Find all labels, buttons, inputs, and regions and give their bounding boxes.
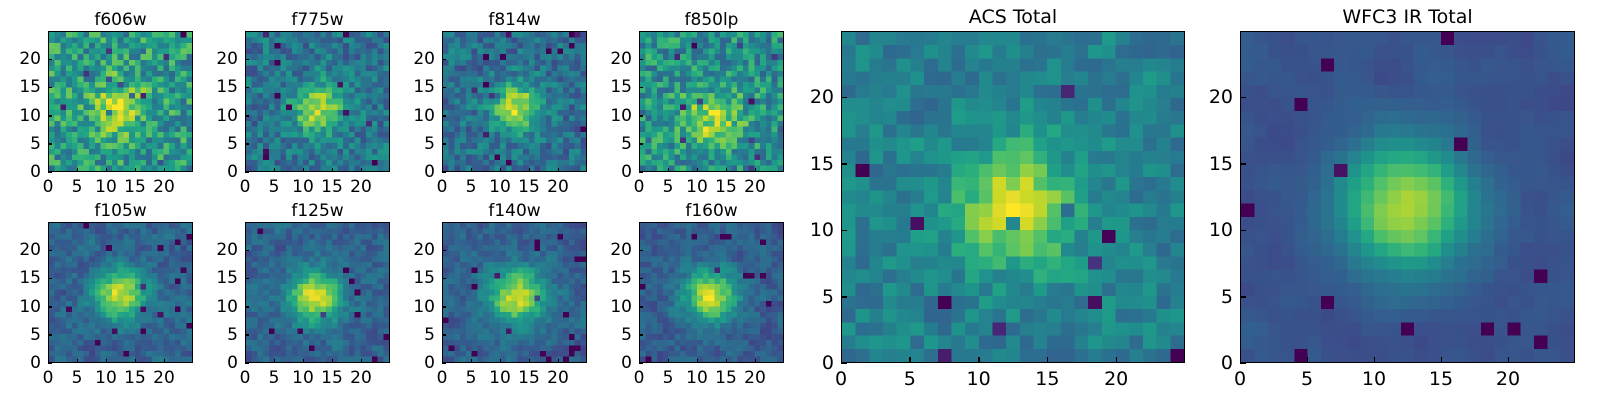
x-tick-label: 20 (1104, 368, 1128, 390)
panel-f140w: f140w0510152005101520 (442, 222, 587, 363)
panel-acs_total: ACS Total0510152005101520 (841, 31, 1185, 363)
y-tick (245, 115, 249, 117)
panel-f105w: f105w0510152005101520 (48, 222, 193, 363)
x-tick-label: 10 (292, 177, 314, 197)
x-tick-label: 15 (124, 368, 146, 388)
x-tick (471, 168, 473, 172)
panel-title-f160w: f160w (639, 201, 784, 221)
x-tick (135, 168, 137, 172)
panel-f125w: f125w0510152005101520 (245, 222, 390, 363)
figure-canvas: f606w0510152005101520f775w05101520051015… (0, 0, 1600, 400)
panel-title-f125w: f125w (245, 201, 390, 221)
y-tick-label: 0 (395, 353, 435, 373)
y-tick (48, 278, 52, 280)
y-tick-label: 10 (395, 106, 435, 126)
x-tick-label: 10 (95, 368, 117, 388)
y-tick-label: 20 (1, 240, 41, 260)
y-tick (442, 278, 446, 280)
heatmap-image-f775w (245, 31, 390, 172)
x-tick-label: 10 (686, 368, 708, 388)
y-tick-label: 15 (1193, 153, 1233, 175)
x-tick-label: 10 (292, 368, 314, 388)
x-tick (274, 168, 276, 172)
panel-title-acs_total: ACS Total (841, 6, 1185, 28)
y-tick-label: 15 (198, 77, 238, 97)
y-tick-label: 10 (794, 219, 834, 241)
x-tick (529, 168, 531, 172)
y-tick-label: 15 (592, 268, 632, 288)
y-tick-label: 5 (1, 134, 41, 154)
x-tick-label: 20 (153, 177, 175, 197)
x-tick (303, 168, 305, 172)
panel-title-f606w: f606w (48, 10, 193, 30)
x-tick (500, 359, 502, 363)
y-tick (841, 296, 847, 298)
heatmap-image-f850lp (639, 31, 784, 172)
x-tick-label: 10 (686, 177, 708, 197)
heatmap-image-f125w (245, 222, 390, 363)
y-tick-label: 0 (198, 162, 238, 182)
x-tick-label: 5 (269, 177, 280, 197)
x-tick (135, 359, 137, 363)
y-tick-label: 20 (592, 240, 632, 260)
y-tick-label: 10 (1, 297, 41, 317)
y-tick-label: 10 (1193, 219, 1233, 241)
heatmap-image-wfc3_ir_total (1240, 31, 1575, 363)
x-tick (668, 168, 670, 172)
x-tick (1508, 357, 1510, 363)
y-tick-label: 5 (592, 134, 632, 154)
y-tick-label: 0 (1, 353, 41, 373)
x-tick (77, 359, 79, 363)
x-tick (668, 359, 670, 363)
y-tick (1240, 163, 1246, 165)
y-tick-label: 15 (395, 77, 435, 97)
panel-f814w: f814w0510152005101520 (442, 31, 587, 172)
y-tick-label: 15 (395, 268, 435, 288)
y-tick-label: 10 (1, 106, 41, 126)
x-tick (332, 359, 334, 363)
x-tick (639, 168, 641, 172)
y-tick (48, 306, 52, 308)
y-tick (639, 143, 643, 145)
heatmap-image-f140w (442, 222, 587, 363)
x-tick-label: 15 (321, 177, 343, 197)
y-tick (639, 59, 643, 61)
y-tick (245, 59, 249, 61)
y-tick (48, 87, 52, 89)
heatmap-image-f160w (639, 222, 784, 363)
x-tick-label: 10 (489, 177, 511, 197)
x-tick (361, 168, 363, 172)
y-tick-label: 20 (1193, 86, 1233, 108)
x-tick (245, 168, 247, 172)
x-tick-label: 0 (43, 177, 54, 197)
y-tick-label: 5 (395, 325, 435, 345)
x-tick (442, 359, 444, 363)
y-tick (245, 278, 249, 280)
x-tick-label: 15 (1035, 368, 1059, 390)
y-tick-label: 20 (198, 49, 238, 69)
y-tick (639, 250, 643, 252)
y-tick-label: 20 (395, 240, 435, 260)
x-tick-label: 5 (466, 368, 477, 388)
y-tick (48, 334, 52, 336)
x-tick-label: 5 (466, 177, 477, 197)
x-tick-label: 0 (240, 368, 251, 388)
heatmap-image-acs_total (841, 31, 1185, 363)
x-tick-label: 0 (634, 177, 645, 197)
y-tick (245, 306, 249, 308)
y-tick (442, 250, 446, 252)
x-tick (77, 168, 79, 172)
x-tick-label: 15 (1429, 368, 1453, 390)
heatmap-image-f105w (48, 222, 193, 363)
panel-title-f775w: f775w (245, 10, 390, 30)
y-tick-label: 20 (794, 86, 834, 108)
y-tick-label: 10 (592, 297, 632, 317)
x-tick (471, 359, 473, 363)
x-tick (48, 359, 50, 363)
x-tick (106, 168, 108, 172)
x-tick-label: 0 (1234, 368, 1246, 390)
x-tick-label: 10 (967, 368, 991, 390)
x-tick-label: 20 (1496, 368, 1520, 390)
x-tick-label: 20 (744, 177, 766, 197)
x-tick (1116, 357, 1118, 363)
x-tick-label: 15 (715, 177, 737, 197)
y-tick (245, 143, 249, 145)
heatmap-image-f606w (48, 31, 193, 172)
panel-f606w: f606w0510152005101520 (48, 31, 193, 172)
x-tick (726, 359, 728, 363)
x-tick-label: 10 (95, 177, 117, 197)
y-tick (442, 59, 446, 61)
x-tick (332, 168, 334, 172)
y-tick-label: 5 (794, 286, 834, 308)
y-tick-label: 15 (198, 268, 238, 288)
y-tick-label: 10 (198, 106, 238, 126)
x-tick-label: 5 (269, 368, 280, 388)
y-tick-label: 10 (395, 297, 435, 317)
y-tick-label: 15 (1, 77, 41, 97)
y-tick (48, 143, 52, 145)
panel-title-f814w: f814w (442, 10, 587, 30)
x-tick-label: 15 (124, 177, 146, 197)
x-tick-label: 10 (1362, 368, 1386, 390)
x-tick-label: 0 (835, 368, 847, 390)
x-tick-label: 0 (43, 368, 54, 388)
x-tick-label: 5 (663, 368, 674, 388)
y-tick (841, 97, 847, 99)
x-tick (303, 359, 305, 363)
x-tick (697, 359, 699, 363)
y-tick (48, 59, 52, 61)
x-tick (361, 359, 363, 363)
x-tick (726, 168, 728, 172)
y-tick-label: 5 (198, 325, 238, 345)
y-tick (639, 278, 643, 280)
x-tick (274, 359, 276, 363)
panel-wfc3_ir_total: WFC3 IR Total0510152005101520 (1240, 31, 1575, 363)
y-tick (841, 230, 847, 232)
x-tick (48, 168, 50, 172)
y-tick-label: 0 (395, 162, 435, 182)
y-tick (245, 250, 249, 252)
x-tick-label: 0 (437, 177, 448, 197)
y-tick (245, 334, 249, 336)
x-tick-label: 20 (350, 368, 372, 388)
y-tick (639, 115, 643, 117)
y-tick (442, 306, 446, 308)
y-tick (442, 143, 446, 145)
x-tick-label: 5 (663, 177, 674, 197)
y-tick-label: 5 (1, 325, 41, 345)
panel-title-wfc3_ir_total: WFC3 IR Total (1240, 6, 1575, 28)
y-tick-label: 5 (592, 325, 632, 345)
x-tick-label: 20 (547, 368, 569, 388)
x-tick-label: 15 (321, 368, 343, 388)
y-tick-label: 10 (198, 297, 238, 317)
x-tick-label: 20 (153, 368, 175, 388)
y-tick (48, 115, 52, 117)
x-tick (442, 168, 444, 172)
y-tick-label: 20 (395, 49, 435, 69)
y-tick (245, 87, 249, 89)
panel-f850lp: f850lp0510152005101520 (639, 31, 784, 172)
y-tick-label: 15 (1, 268, 41, 288)
x-tick-label: 5 (1301, 368, 1313, 390)
y-tick (841, 163, 847, 165)
x-tick (841, 357, 843, 363)
x-tick-label: 15 (518, 368, 540, 388)
y-tick (639, 87, 643, 89)
x-tick-label: 15 (518, 177, 540, 197)
y-tick-label: 20 (592, 49, 632, 69)
panel-f775w: f775w0510152005101520 (245, 31, 390, 172)
y-tick-label: 5 (1193, 286, 1233, 308)
y-tick-label: 20 (1, 49, 41, 69)
x-tick (755, 359, 757, 363)
y-tick (1240, 296, 1246, 298)
x-tick (164, 359, 166, 363)
x-tick (1047, 357, 1049, 363)
panel-title-f850lp: f850lp (639, 10, 784, 30)
panel-title-f105w: f105w (48, 201, 193, 221)
x-tick-label: 10 (489, 368, 511, 388)
y-tick (1240, 230, 1246, 232)
x-tick (909, 357, 911, 363)
y-tick-label: 0 (1, 162, 41, 182)
y-tick-label: 5 (395, 134, 435, 154)
x-tick (558, 168, 560, 172)
x-tick (500, 168, 502, 172)
x-tick-label: 5 (72, 177, 83, 197)
x-tick-label: 20 (744, 368, 766, 388)
x-tick (639, 359, 641, 363)
y-tick (442, 87, 446, 89)
y-tick-label: 0 (592, 162, 632, 182)
y-tick (442, 334, 446, 336)
heatmap-image-f814w (442, 31, 587, 172)
x-tick-label: 0 (240, 177, 251, 197)
y-tick-label: 0 (794, 352, 834, 374)
x-tick-label: 20 (350, 177, 372, 197)
x-tick-label: 20 (547, 177, 569, 197)
x-tick-label: 5 (904, 368, 916, 390)
x-tick (245, 359, 247, 363)
y-tick-label: 0 (198, 353, 238, 373)
x-tick-label: 15 (715, 368, 737, 388)
x-tick-label: 0 (634, 368, 645, 388)
x-tick (1240, 357, 1242, 363)
x-tick (1441, 357, 1443, 363)
x-tick (106, 359, 108, 363)
x-tick-label: 0 (437, 368, 448, 388)
y-tick (639, 334, 643, 336)
x-tick (978, 357, 980, 363)
x-tick (164, 168, 166, 172)
y-tick-label: 0 (1193, 352, 1233, 374)
x-tick (1307, 357, 1309, 363)
y-tick-label: 15 (592, 77, 632, 97)
panel-f160w: f160w0510152005101520 (639, 222, 784, 363)
panel-title-f140w: f140w (442, 201, 587, 221)
y-tick (1240, 97, 1246, 99)
y-tick (48, 250, 52, 252)
x-tick (529, 359, 531, 363)
y-tick-label: 10 (592, 106, 632, 126)
y-tick-label: 20 (198, 240, 238, 260)
x-tick (697, 168, 699, 172)
x-tick (1374, 357, 1376, 363)
y-tick (639, 306, 643, 308)
y-tick-label: 15 (794, 153, 834, 175)
y-tick-label: 0 (592, 353, 632, 373)
x-tick (755, 168, 757, 172)
y-tick-label: 5 (198, 134, 238, 154)
x-tick (558, 359, 560, 363)
x-tick-label: 5 (72, 368, 83, 388)
y-tick (442, 115, 446, 117)
